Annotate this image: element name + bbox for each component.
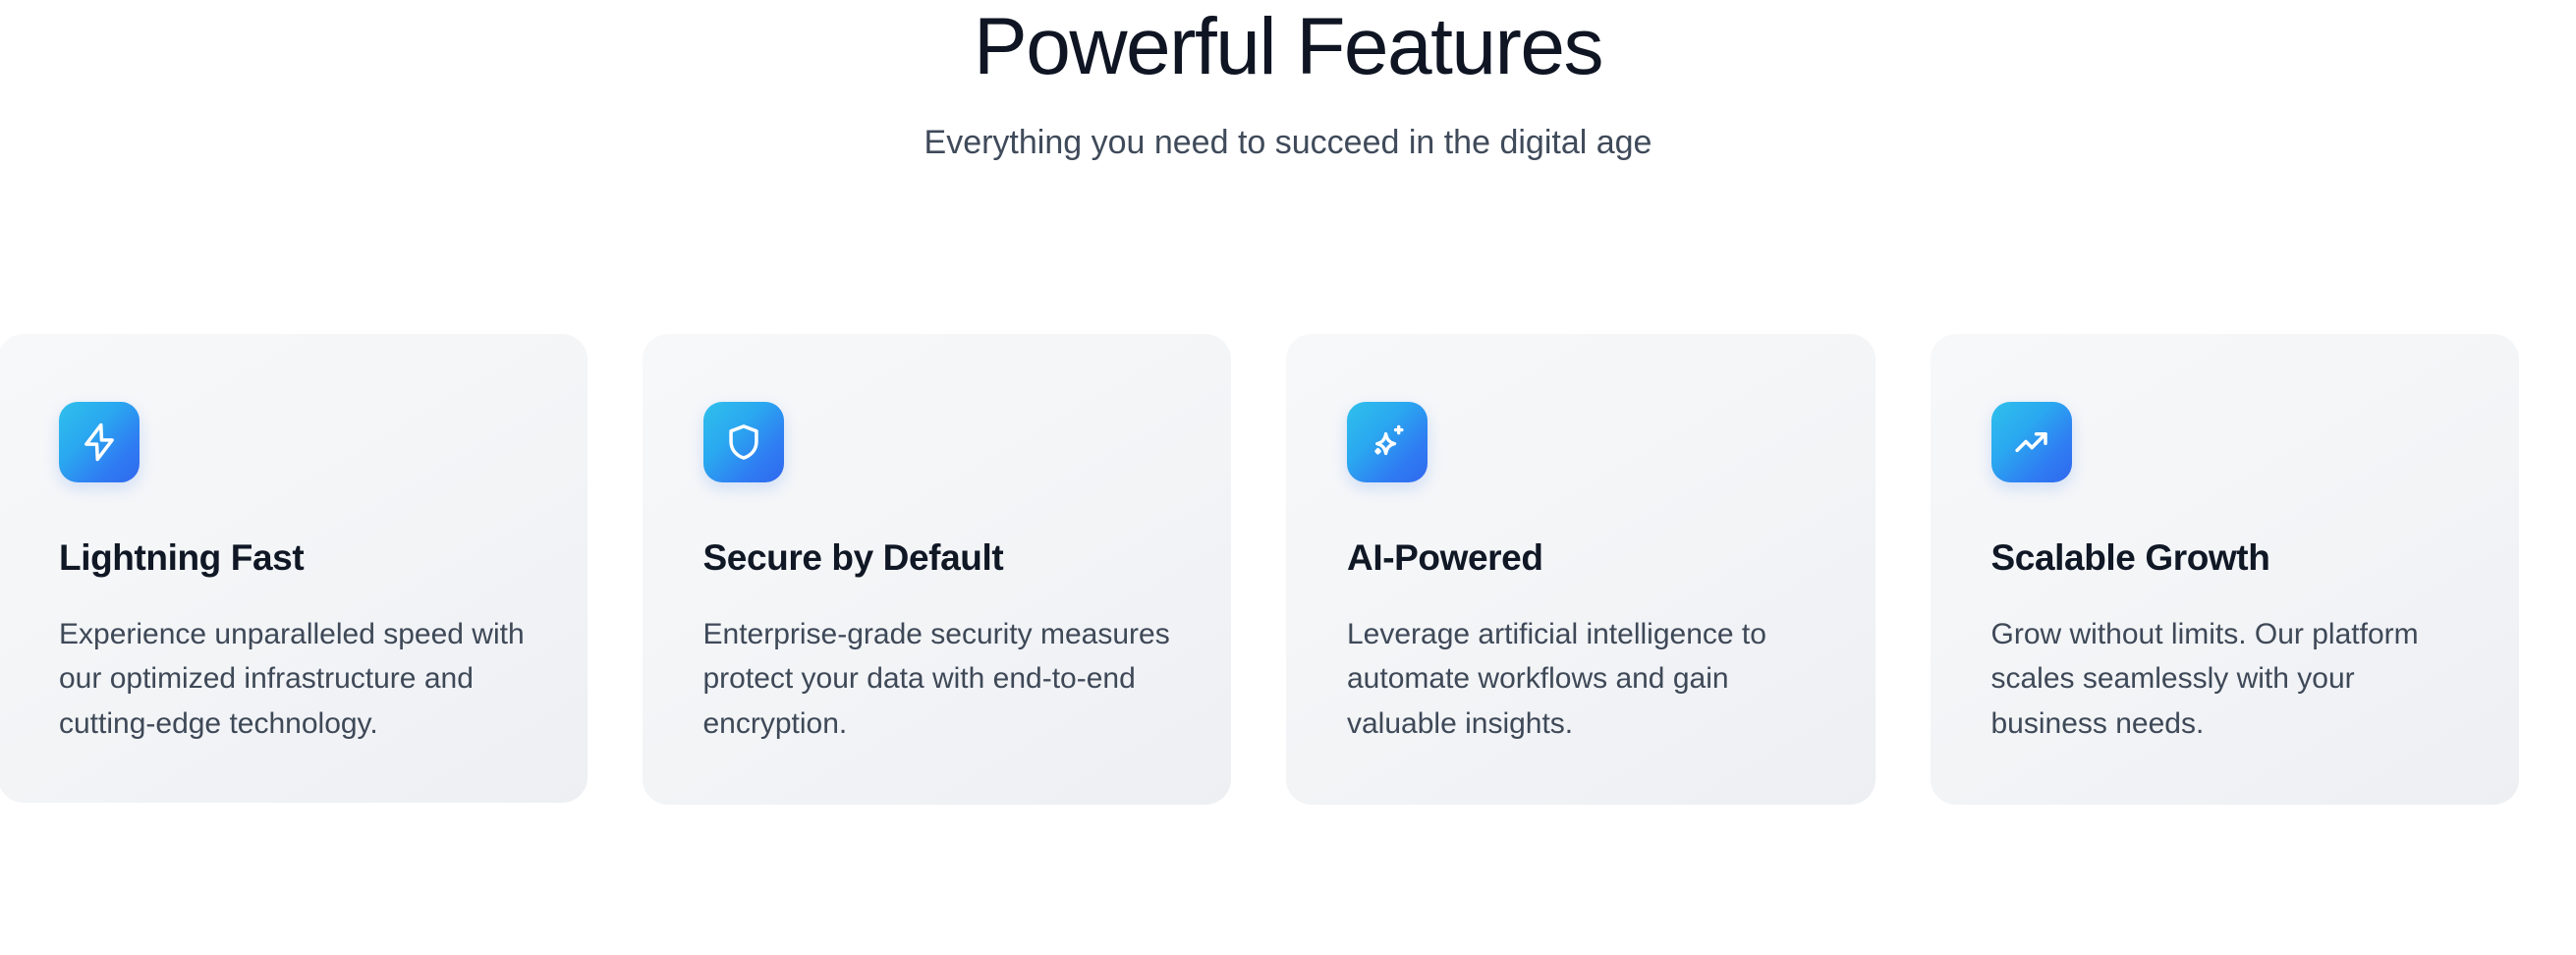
features-section: Powerful Features Everything you need to…	[0, 0, 2576, 955]
card-title: Secure by Default	[703, 482, 1175, 580]
sparkles-icon	[1367, 421, 1408, 463]
section-header: Powerful Features Everything you need to…	[0, 0, 2576, 162]
shield-icon-tile	[703, 402, 784, 482]
feature-cards-row: Lightning Fast Experience unparalleled s…	[0, 334, 2519, 805]
shield-icon	[723, 421, 764, 463]
page-subtitle: Everything you need to succeed in the di…	[0, 88, 2576, 163]
card-description: Grow without limits. Our platform scales…	[1991, 580, 2463, 747]
feature-card-lightning-fast[interactable]: Lightning Fast Experience unparalleled s…	[0, 334, 588, 803]
trending-up-icon	[2011, 421, 2052, 463]
lightning-bolt-icon-tile	[59, 402, 140, 482]
feature-card-scalable-growth[interactable]: Scalable Growth Grow without limits. Our…	[1931, 334, 2520, 805]
sparkles-icon-tile	[1347, 402, 1428, 482]
card-description: Leverage artificial intelligence to auto…	[1347, 580, 1819, 747]
feature-card-secure-by-default[interactable]: Secure by Default Enterprise-grade secur…	[643, 334, 1232, 805]
feature-card-ai-powered[interactable]: AI-Powered Leverage artificial intellige…	[1286, 334, 1876, 805]
card-title: AI-Powered	[1347, 482, 1819, 580]
page-title: Powerful Features	[0, 6, 2576, 88]
card-title: Scalable Growth	[1991, 482, 2463, 580]
lightning-bolt-icon	[79, 421, 120, 463]
trending-up-icon-tile	[1991, 402, 2072, 482]
card-description: Experience unparalleled speed with our o…	[59, 580, 531, 747]
card-title: Lightning Fast	[59, 482, 531, 580]
card-description: Enterprise-grade security measures prote…	[703, 580, 1175, 747]
